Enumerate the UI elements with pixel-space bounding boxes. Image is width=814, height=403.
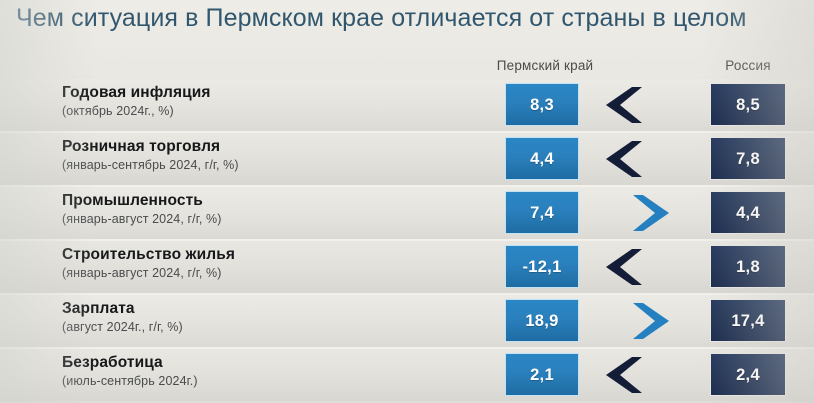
column-header-region: Пермский край <box>470 58 620 73</box>
row-label: Строительство жилья(январь-август 2024, … <box>62 245 482 282</box>
page-title: Чем ситуация в Пермском крае отличается … <box>16 2 786 34</box>
indicator-name: Строительство жилья <box>62 245 482 264</box>
country-value-chip: 2,4 <box>710 353 786 396</box>
slide-canvas: Чем ситуация в Пермском крае отличается … <box>0 0 814 403</box>
row-label: Зарплата(август 2024г., г/г, %) <box>62 299 482 336</box>
chevron-right-icon <box>629 301 673 341</box>
indicator-name: Промышленность <box>62 191 482 210</box>
chevron-left-icon <box>602 139 646 179</box>
chevron-left-icon <box>602 247 646 287</box>
country-value-chip: 1,8 <box>710 245 786 288</box>
indicator-name: Безработица <box>62 353 482 372</box>
region-value-chip: -12,1 <box>505 245 579 288</box>
region-value-chip: 18,9 <box>505 299 579 342</box>
indicator-period: (январь-сентябрь 2024, г/г, %) <box>62 157 482 174</box>
country-value-chip: 4,4 <box>710 191 786 234</box>
indicator-period: (октябрь 2024г., %) <box>62 103 482 120</box>
table-row: Зарплата(август 2024г., г/г, %)18,917,4 <box>0 295 814 349</box>
indicator-period: (август 2024г., г/г, %) <box>62 319 482 336</box>
indicator-name: Годовая инфляция <box>62 83 482 102</box>
country-value-chip: 8,5 <box>710 83 786 126</box>
row-label: Промышленность(январь-август 2024, г/г, … <box>62 191 482 228</box>
region-value-chip: 2,1 <box>505 353 579 396</box>
indicator-name: Зарплата <box>62 299 482 318</box>
region-value-chip: 7,4 <box>505 191 579 234</box>
table-row: Строительство жилья(январь-август 2024, … <box>0 241 814 295</box>
table-row: Безработица(июль-сентябрь 2024г.)2,12,4 <box>0 349 814 401</box>
table-row: Розничная торговля(январь-сентябрь 2024,… <box>0 133 814 187</box>
country-value-chip: 7,8 <box>710 137 786 180</box>
table-row: Годовая инфляция(октябрь 2024г., %)8,38,… <box>0 79 814 133</box>
chevron-right-icon <box>629 193 673 233</box>
chevron-left-icon <box>602 85 646 125</box>
row-label: Розничная торговля(январь-сентябрь 2024,… <box>62 137 482 174</box>
indicator-name: Розничная торговля <box>62 137 482 156</box>
region-value-chip: 4,4 <box>505 137 579 180</box>
country-value-chip: 17,4 <box>710 299 786 342</box>
indicator-period: (июль-сентябрь 2024г.) <box>62 373 482 390</box>
table-row: Промышленность(январь-август 2024, г/г, … <box>0 187 814 241</box>
indicator-period: (январь-август 2024, г/г, %) <box>62 265 482 282</box>
indicator-table: Годовая инфляция(октябрь 2024г., %)8,38,… <box>0 79 814 401</box>
region-value-chip: 8,3 <box>505 83 579 126</box>
column-header-country: Россия <box>690 58 806 73</box>
row-label: Безработица(июль-сентябрь 2024г.) <box>62 353 482 390</box>
row-label: Годовая инфляция(октябрь 2024г., %) <box>62 83 482 120</box>
indicator-period: (январь-август 2024, г/г, %) <box>62 211 482 228</box>
chevron-left-icon <box>602 355 646 395</box>
